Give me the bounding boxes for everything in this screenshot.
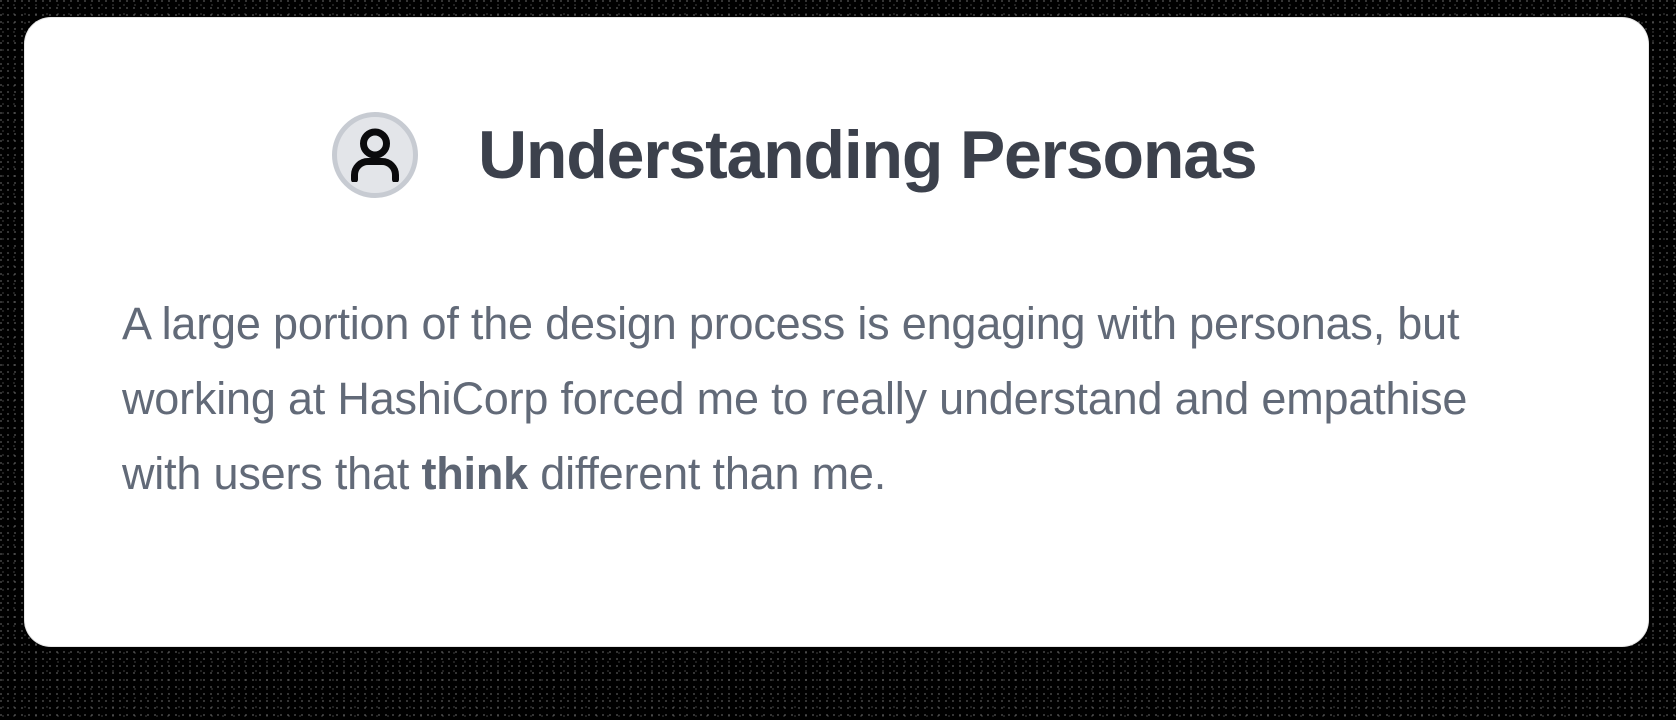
page-title: Understanding Personas xyxy=(478,121,1256,189)
card-header: Understanding Personas xyxy=(332,112,1256,198)
person-avatar-icon xyxy=(332,112,418,198)
outer-frame: Understanding Personas A large portion o… xyxy=(0,0,1676,720)
body-paragraph: A large portion of the design process is… xyxy=(122,286,1542,511)
body-emphasis: think xyxy=(421,448,528,499)
body-text-run: different than me. xyxy=(528,448,886,499)
content-card: Understanding Personas A large portion o… xyxy=(25,18,1648,646)
